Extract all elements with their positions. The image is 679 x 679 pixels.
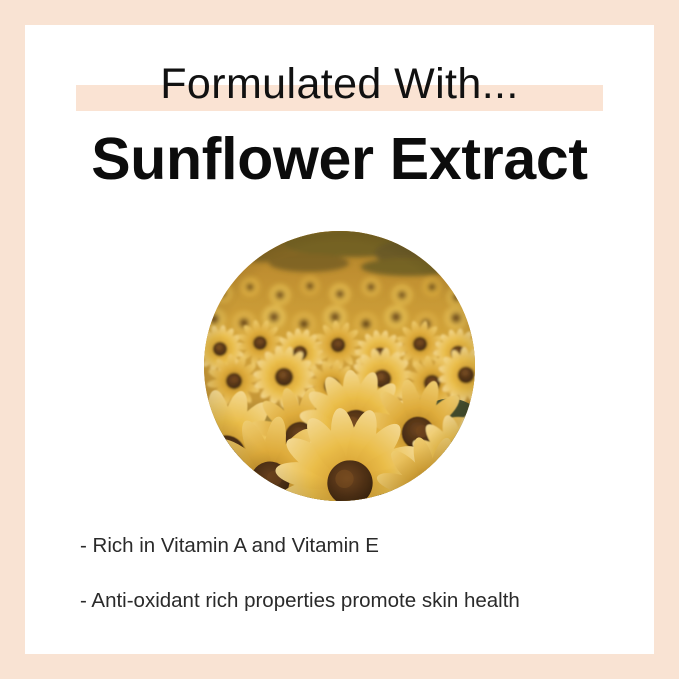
sunflower-illustration bbox=[204, 231, 475, 501]
eyebrow-wrapper: Formulated With... bbox=[25, 53, 654, 115]
sunflower-field-photo bbox=[204, 231, 475, 501]
page-title: Sunflower Extract bbox=[25, 130, 654, 189]
benefits-list: - Rich in Vitamin A and Vitamin E - Anti… bbox=[80, 534, 640, 613]
benefit-item: - Anti-oxidant rich properties promote s… bbox=[80, 589, 640, 614]
heading-block: Formulated With... Sunflower Extract bbox=[25, 25, 654, 220]
content-card: Formulated With... Sunflower Extract bbox=[25, 25, 654, 654]
benefit-item: - Rich in Vitamin A and Vitamin E bbox=[80, 534, 640, 559]
eyebrow-text: Formulated With... bbox=[160, 63, 518, 106]
page-root: Formulated With... Sunflower Extract bbox=[0, 0, 679, 679]
